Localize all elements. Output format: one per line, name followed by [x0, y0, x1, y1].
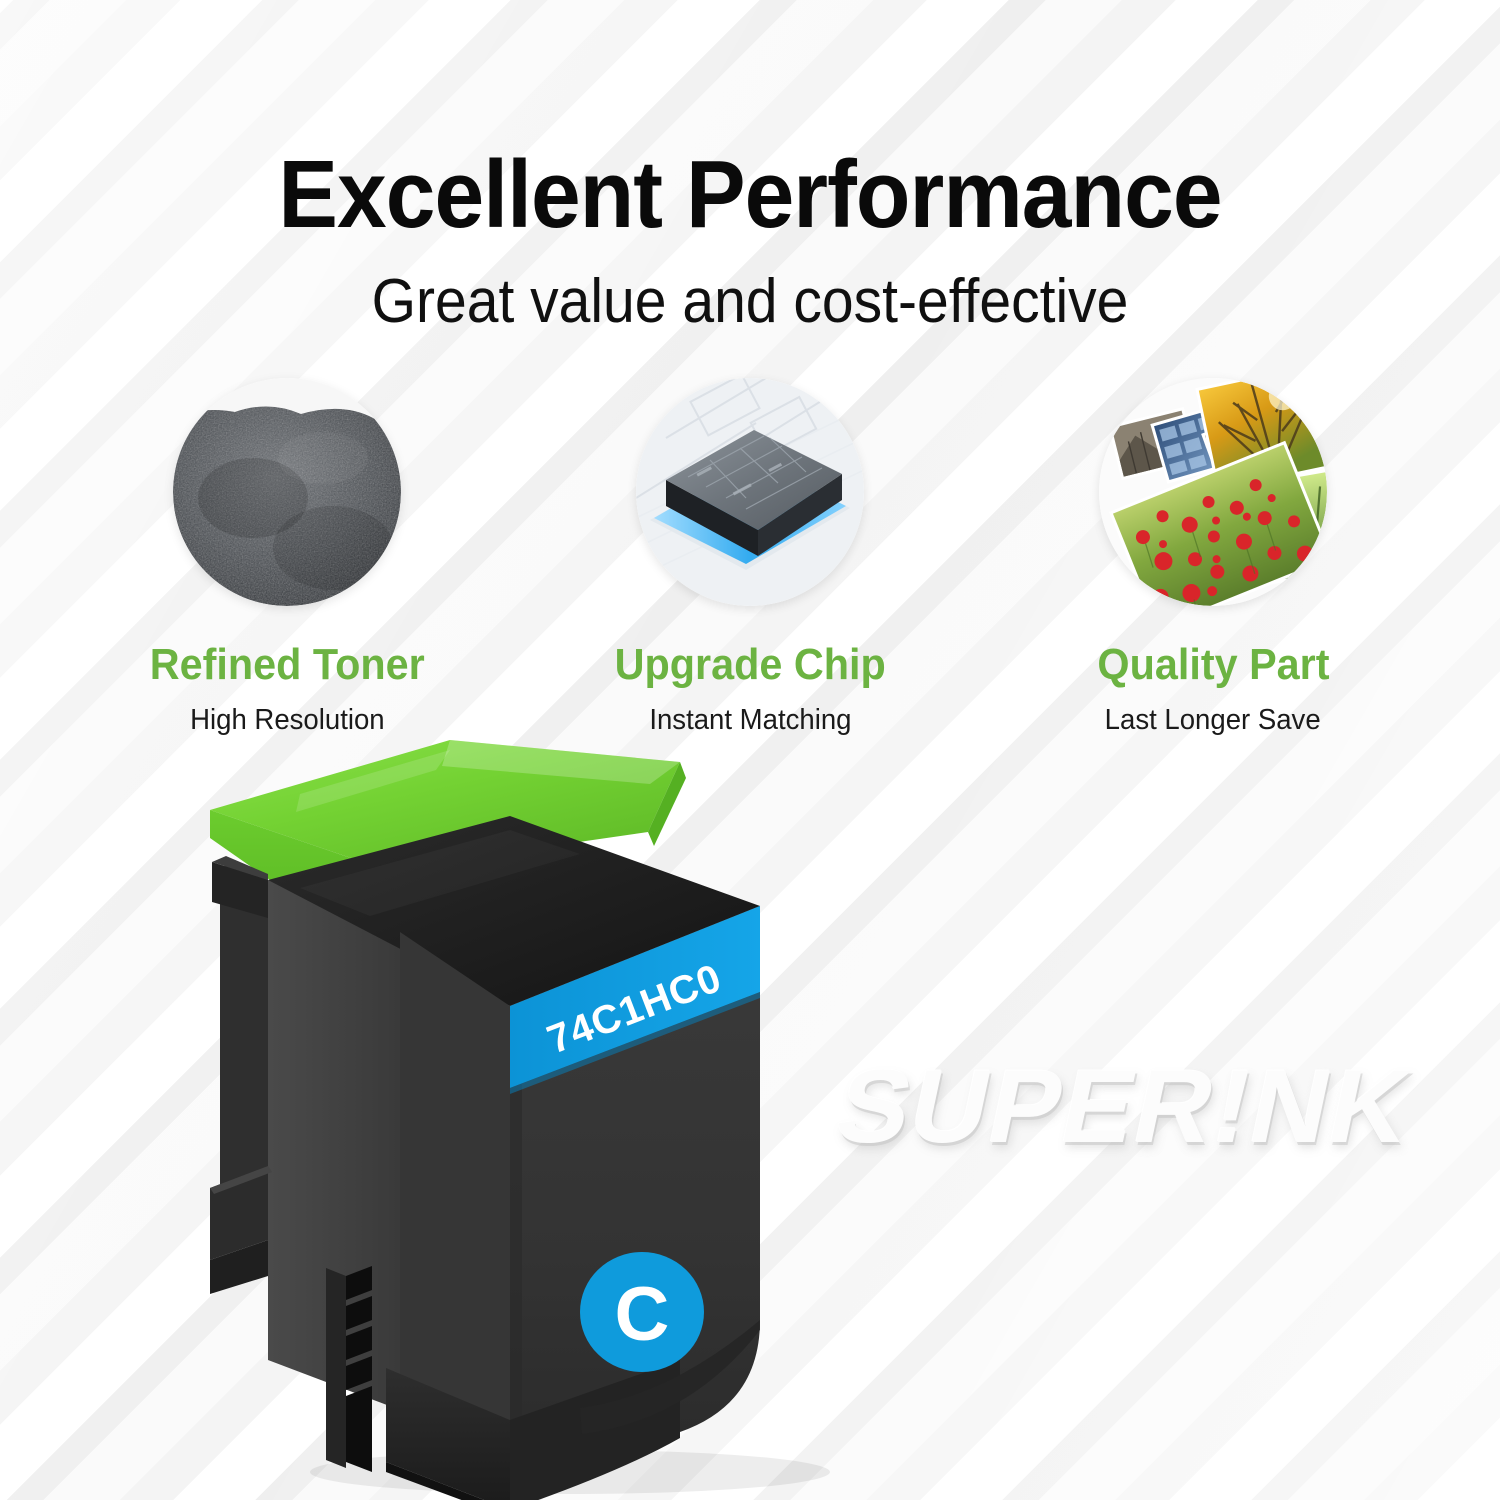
feature-subtitle: High Resolution [190, 704, 384, 737]
page-title: Excellent Performance [53, 140, 1448, 250]
toner-powder-icon [173, 378, 401, 606]
feature-subtitle: Last Longer Save [1105, 704, 1321, 737]
feature-item-quality-part: Quality Part Last Longer Save [1099, 378, 1327, 737]
feature-title: Quality Part [1097, 640, 1329, 690]
feature-item-refined-toner: Refined Toner High Resolution [173, 378, 401, 737]
toner-cartridge-image: 74C1HC0 C [150, 720, 910, 1500]
product-marketing-banner: Excellent Performance Great value and co… [0, 0, 1500, 1500]
page-subtitle: Great value and cost-effective [60, 266, 1440, 337]
printed-photos-icon [1099, 378, 1327, 606]
feature-subtitle: Instant Matching [649, 704, 851, 737]
feature-item-upgrade-chip: Upgrade Chip Instant Matching [636, 378, 864, 737]
color-badge-label: C [615, 1272, 670, 1357]
feature-title: Upgrade Chip [614, 640, 885, 690]
feature-list: Refined Toner High Resolution [0, 378, 1500, 737]
brand-watermark: SUPER!NK [827, 1048, 1423, 1167]
microchip-icon [636, 378, 864, 606]
feature-title: Refined Toner [150, 640, 425, 690]
